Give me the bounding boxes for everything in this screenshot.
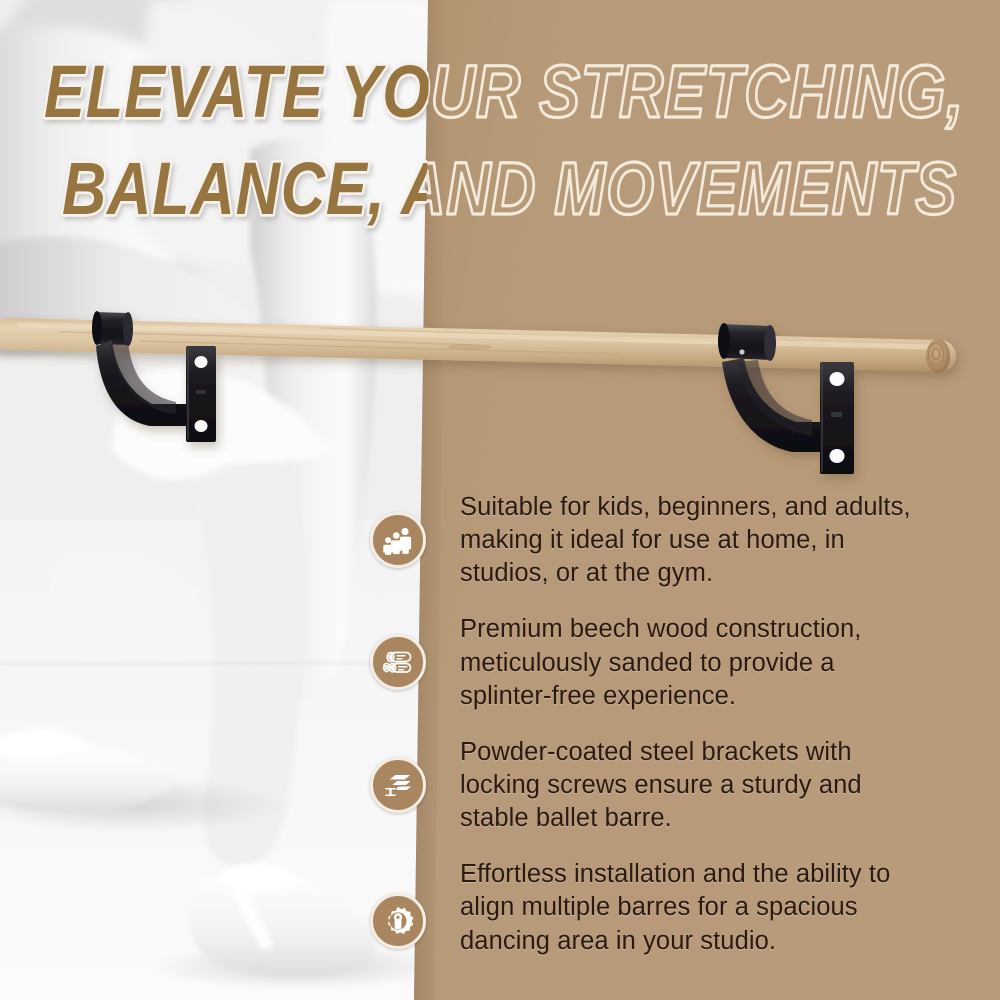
people-group-icon <box>370 512 426 568</box>
feature-item: Premium beech wood construction, meticul… <box>370 612 930 712</box>
steel-beam-icon <box>370 757 426 813</box>
wood-logs-icon <box>370 634 426 690</box>
feature-text: Premium beech wood construction, meticul… <box>460 612 930 712</box>
gear-wrench-icon <box>370 893 426 949</box>
feature-text: Effortless installation and the ability … <box>460 857 930 957</box>
feature-item: Suitable for kids, beginners, and adults… <box>370 490 930 590</box>
feature-list: Suitable for kids, beginners, and adults… <box>370 490 930 958</box>
feature-item: Powder-coated steel brackets with lockin… <box>370 735 930 835</box>
feature-item: Effortless installation and the ability … <box>370 857 930 957</box>
product-feature-banner: ELEVATE YOUR STRETCHING, ELEVATE YOUR ST… <box>0 0 1000 1000</box>
feature-text: Suitable for kids, beginners, and adults… <box>460 490 930 590</box>
feature-text: Powder-coated steel brackets with lockin… <box>460 735 930 835</box>
